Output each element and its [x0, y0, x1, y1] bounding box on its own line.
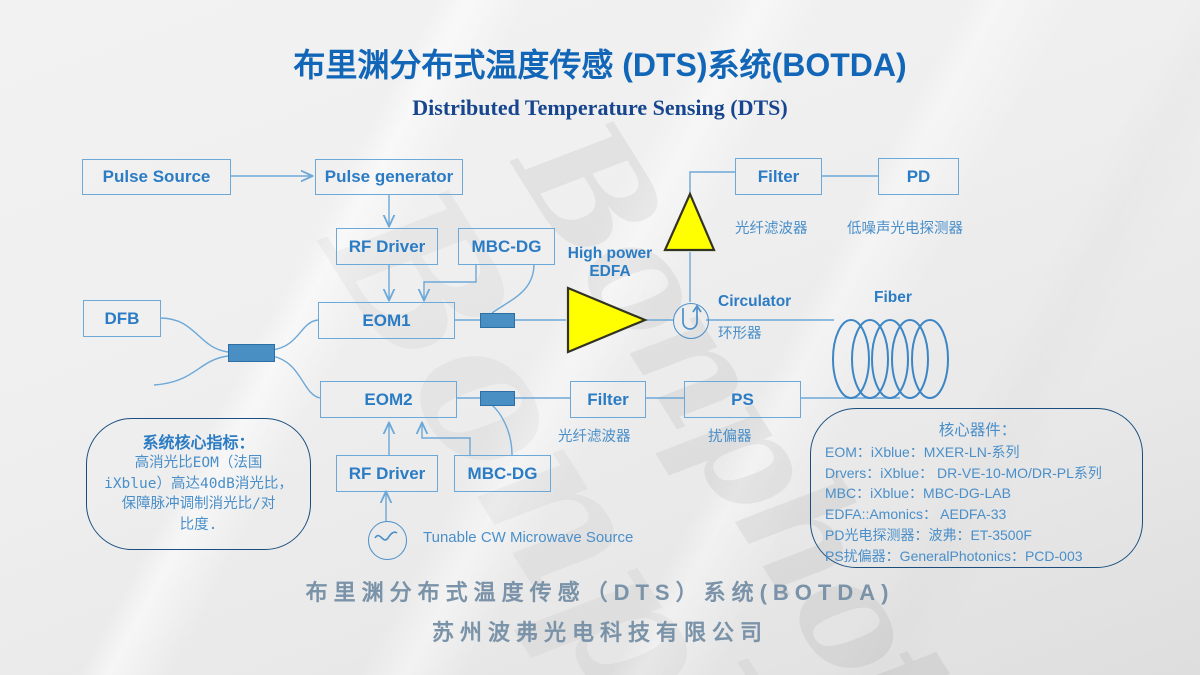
label-ps-cn: 扰偏器	[708, 425, 752, 446]
edfa-backing-2	[662, 196, 718, 252]
footer-line-1: 布里渊分布式温度传感（DTS）系统(BOTDA)	[0, 575, 1200, 607]
spec-box-left: 系统核心指标： 高消光比EOM（法国 iXblue）高达40dB消光比， 保障脉…	[86, 418, 311, 550]
block-label: Pulse generator	[325, 167, 454, 187]
block-eom2[interactable]: EOM2	[320, 381, 457, 418]
spec-right-line: Drvers：iXblue： DR-VE-10-MO/DR-PL系列	[825, 463, 1130, 484]
page-title-english: Distributed Temperature Sensing (DTS)	[0, 95, 1200, 121]
spec-left-body: 高消光比EOM（法国 iXblue）高达40dB消光比， 保障脉冲调制消光比/对…	[95, 453, 302, 535]
block-dfb[interactable]: DFB	[83, 300, 161, 337]
label-circulator: Circulator	[718, 293, 791, 311]
spec-right-line: MBC：iXblue：MBC-DG-LAB	[825, 483, 1130, 504]
block-label: DFB	[105, 309, 140, 329]
block-pd[interactable]: PD	[878, 158, 959, 195]
block-label: PD	[907, 167, 931, 187]
label-line-2: EDFA	[560, 263, 660, 281]
block-label: MBC-DG	[472, 237, 542, 257]
spec-left-line: 保障脉冲调制消光比/对	[95, 494, 302, 515]
block-mbc-dg-bottom[interactable]: MBC-DG	[454, 455, 551, 492]
circulator-icon	[673, 303, 709, 339]
spec-right-line: PS扰偏器：GeneralPhotonics：PCD-003	[825, 546, 1130, 567]
block-rf-driver-top[interactable]: RF Driver	[336, 228, 438, 265]
coupler-dfb	[228, 344, 275, 362]
block-label: EOM2	[364, 390, 412, 410]
label-fiber: Fiber	[874, 289, 912, 307]
edfa-backing-1	[566, 286, 640, 354]
block-filter-bottom[interactable]: Filter	[570, 381, 646, 418]
fiber-coil-icon	[833, 320, 948, 398]
spec-right-body: EOM：iXblue：MXER-LN-系列 Drvers：iXblue： DR-…	[825, 442, 1130, 566]
block-label: PS	[731, 390, 754, 410]
label-circulator-cn: 环形器	[718, 322, 762, 343]
block-ps[interactable]: PS	[684, 381, 801, 418]
block-label: Pulse Source	[103, 167, 211, 187]
spec-right-title: 核心器件：	[825, 418, 1130, 440]
block-pulse-generator[interactable]: Pulse generator	[315, 159, 463, 195]
spec-right-line: PD光电探测器：波弗：ET-3500F	[825, 525, 1130, 546]
footer-line-2: 苏州波弗光电科技有限公司	[0, 615, 1200, 647]
label-high-power-edfa: High power EDFA	[560, 245, 660, 281]
block-label: Filter	[758, 167, 800, 187]
block-label: Filter	[587, 390, 629, 410]
spec-left-title: 系统核心指标：	[95, 429, 302, 453]
label-pd-cn: 低噪声光电探测器	[847, 217, 963, 238]
block-mbc-dg-top[interactable]: MBC-DG	[458, 228, 555, 265]
label-line-1: High power	[560, 245, 660, 263]
microwave-source-icon	[368, 521, 407, 560]
label-filter-top-cn: 光纤滤波器	[735, 217, 808, 238]
spec-right-line: EOM：iXblue：MXER-LN-系列	[825, 442, 1130, 463]
page-title-chinese: 布里渊分布式温度传感 (DTS)系统(BOTDA)	[0, 40, 1200, 86]
spec-box-right: 核心器件： EOM：iXblue：MXER-LN-系列 Drvers：iXblu…	[810, 408, 1143, 568]
coupler-eom2-output	[480, 391, 515, 406]
block-label: RF Driver	[349, 237, 426, 257]
block-label: EOM1	[362, 311, 410, 331]
block-eom1[interactable]: EOM1	[318, 302, 455, 339]
block-rf-driver-bottom[interactable]: RF Driver	[336, 455, 438, 492]
block-filter-top[interactable]: Filter	[735, 158, 822, 195]
slide-canvas: Bonphot Bonphot 布里渊分布式温度传感 (DTS)系统(BOTDA…	[0, 0, 1200, 675]
block-label: MBC-DG	[468, 464, 538, 484]
block-pulse-source[interactable]: Pulse Source	[82, 159, 231, 195]
block-label: RF Driver	[349, 464, 426, 484]
coupler-eom1-output	[480, 313, 515, 328]
spec-left-line: 高消光比EOM（法国	[95, 453, 302, 474]
label-filter-bottom-cn: 光纤滤波器	[558, 425, 631, 446]
label-microwave-source: Tunable CW Microwave Source	[423, 529, 633, 546]
spec-left-line: 比度.	[95, 515, 302, 536]
spec-left-line: iXblue）高达40dB消光比，	[95, 474, 302, 495]
spec-right-line: EDFA::Amonics： AEDFA-33	[825, 504, 1130, 525]
